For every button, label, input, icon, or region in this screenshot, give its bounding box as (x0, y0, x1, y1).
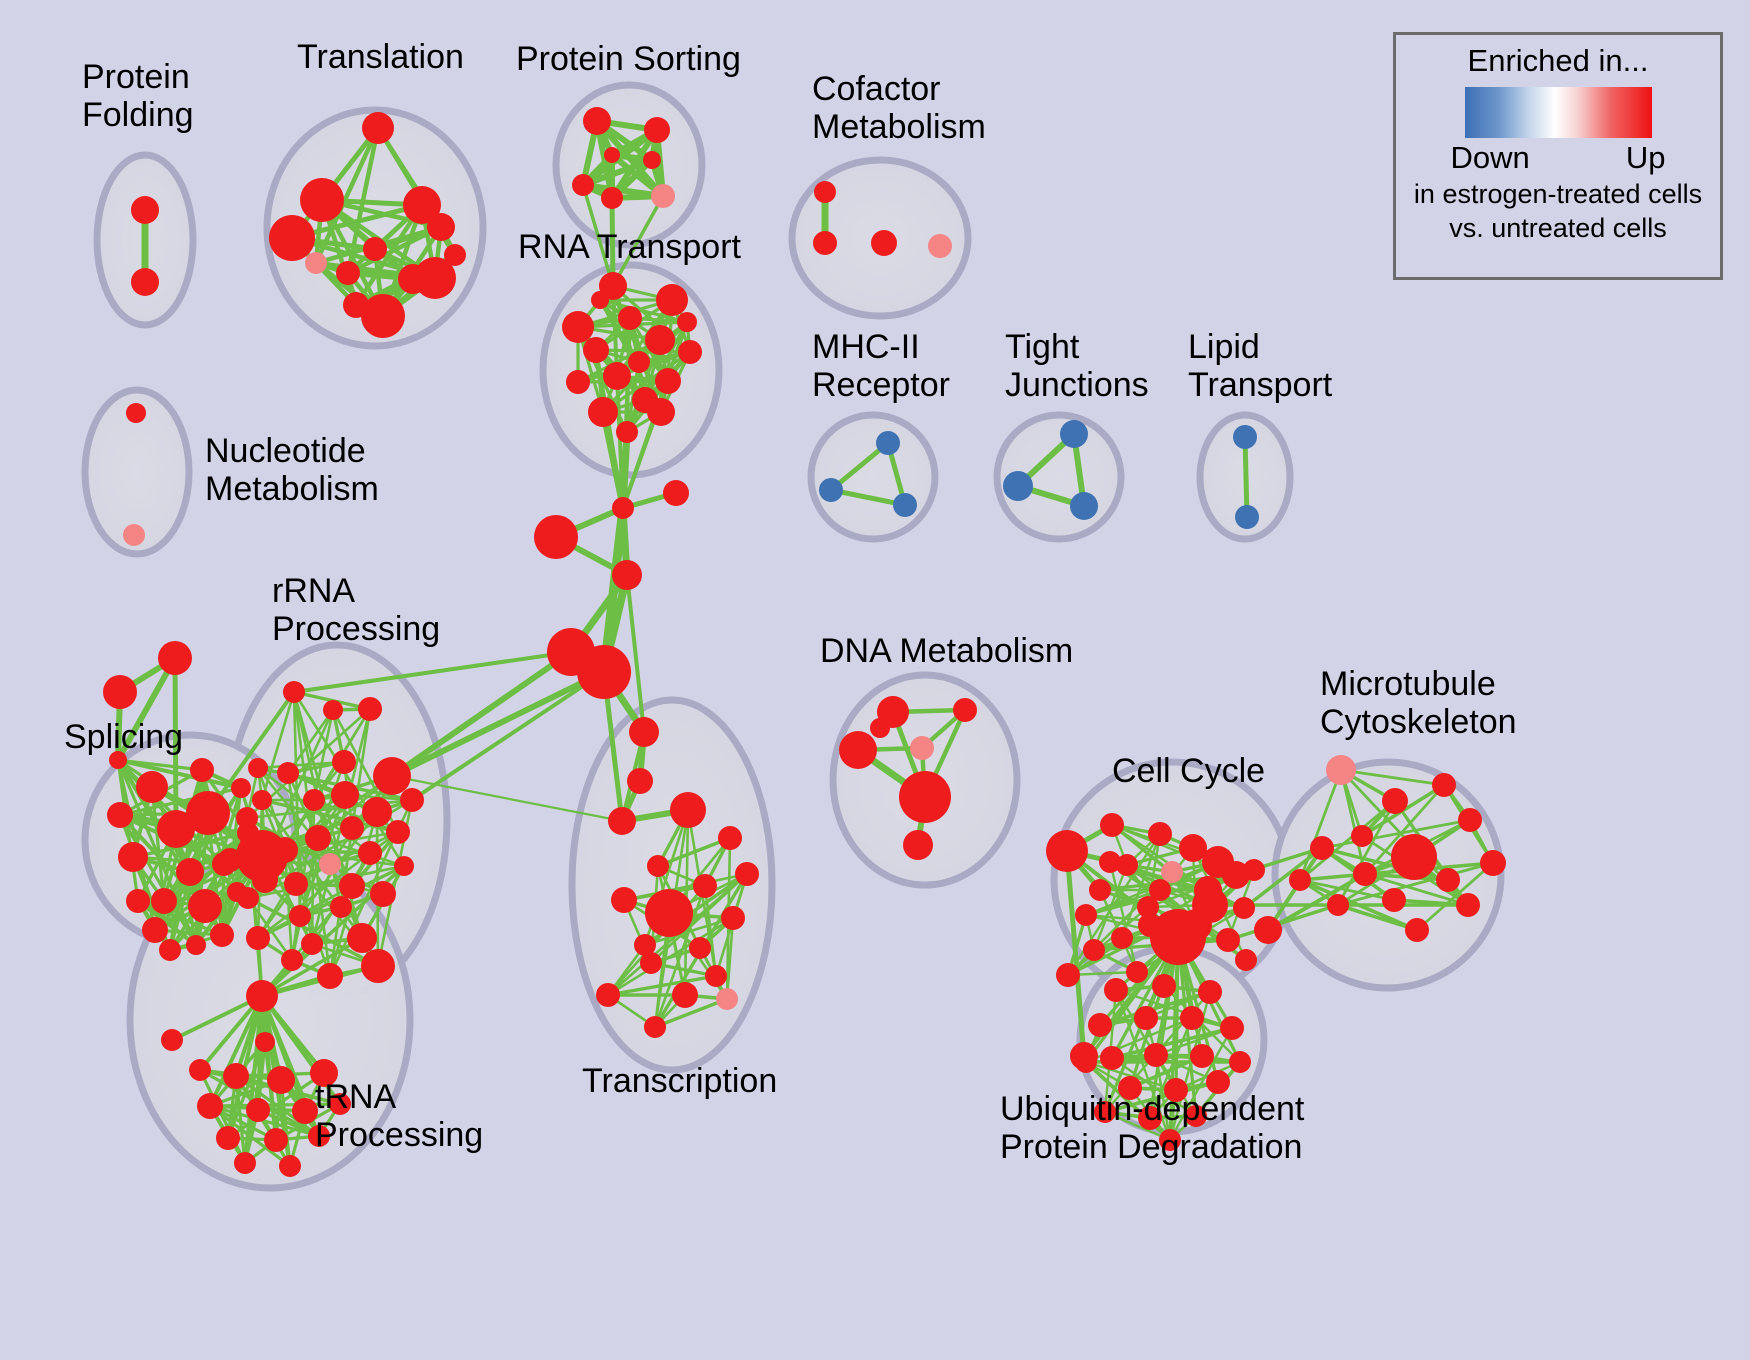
network-node[interactable] (176, 858, 204, 886)
network-node[interactable] (721, 906, 745, 930)
network-node[interactable] (189, 1059, 211, 1081)
legend-title: Enriched in... (1468, 43, 1649, 79)
network-node[interactable] (813, 231, 837, 255)
network-node[interactable] (870, 718, 890, 738)
network-node[interactable] (1243, 859, 1265, 881)
network-node[interactable] (1126, 961, 1148, 983)
network-node[interactable] (142, 917, 168, 943)
network-node[interactable] (1152, 974, 1176, 998)
network-node[interactable] (534, 515, 578, 559)
network-node[interactable] (131, 268, 159, 296)
network-node[interactable] (234, 1152, 256, 1174)
network-node[interactable] (628, 351, 650, 373)
network-node[interactable] (893, 493, 917, 517)
cluster-label-trna-processing: tRNA Processing (315, 1078, 483, 1154)
network-node[interactable] (279, 1155, 301, 1177)
network-node[interactable] (871, 230, 897, 256)
network-node[interactable] (716, 988, 738, 1010)
network-node[interactable] (1216, 928, 1240, 952)
network-node[interactable] (347, 923, 377, 953)
network-node[interactable] (583, 107, 611, 135)
network-node[interactable] (645, 325, 675, 355)
network-node[interactable] (718, 826, 742, 850)
network-node[interactable] (118, 842, 148, 872)
network-node[interactable] (1099, 851, 1121, 873)
network-node[interactable] (255, 1032, 275, 1052)
network-node[interactable] (601, 187, 623, 209)
network-node[interactable] (910, 736, 934, 760)
network-node[interactable] (218, 848, 242, 872)
cluster-ellipse (811, 415, 935, 539)
edge (412, 672, 604, 800)
cluster-label-protein-sorting: Protein Sorting (516, 40, 741, 78)
network-node[interactable] (301, 933, 323, 955)
network-node[interactable] (647, 398, 675, 426)
legend-subtitle-2: vs. untreated cells (1449, 212, 1667, 244)
network-node[interactable] (634, 934, 656, 956)
cluster-label-rrna-processing: rRNA Processing (272, 572, 440, 648)
network-node[interactable] (264, 1128, 288, 1152)
network-node[interactable] (677, 312, 697, 332)
network-node[interactable] (186, 791, 230, 835)
network-node[interactable] (252, 867, 278, 893)
network-node[interactable] (1233, 425, 1257, 449)
network-node[interactable] (1190, 1044, 1214, 1068)
network-node[interactable] (1436, 868, 1460, 892)
network-node[interactable] (1089, 879, 1111, 901)
network-node[interactable] (1289, 869, 1311, 891)
network-node[interactable] (414, 257, 456, 299)
network-node[interactable] (246, 926, 270, 950)
network-node[interactable] (358, 841, 382, 865)
network-node[interactable] (373, 757, 411, 795)
network-node[interactable] (562, 311, 594, 343)
cluster-label-cofactor-metabolism: Cofactor Metabolism (812, 70, 986, 146)
network-node[interactable] (572, 174, 594, 196)
network-node[interactable] (370, 881, 396, 907)
network-node[interactable] (1003, 471, 1033, 501)
legend-low-label: Down (1451, 140, 1530, 176)
cluster-label-mhc-ii-receptor: MHC-II Receptor (812, 328, 950, 404)
network-node[interactable] (1391, 834, 1437, 880)
network-node[interactable] (1353, 862, 1377, 886)
network-node[interactable] (107, 802, 133, 828)
legend-high-label: Up (1626, 140, 1666, 176)
network-node[interactable] (1235, 505, 1259, 529)
legend-subtitle-1: in estrogen-treated cells (1414, 178, 1702, 210)
cluster-label-cell-cycle: Cell Cycle (1112, 752, 1265, 790)
network-node[interactable] (1111, 927, 1133, 949)
network-node[interactable] (656, 284, 688, 316)
network-node[interactable] (343, 292, 369, 318)
network-node[interactable] (269, 215, 315, 261)
network-node[interactable] (678, 340, 702, 364)
network-node[interactable] (899, 771, 951, 823)
network-node[interactable] (1192, 887, 1228, 923)
network-node[interactable] (1382, 788, 1408, 814)
network-node[interactable] (331, 781, 359, 809)
network-node[interactable] (131, 196, 159, 224)
cluster-label-transcription: Transcription (582, 1062, 777, 1100)
network-node[interactable] (876, 431, 900, 455)
legend-gradient-bar (1465, 87, 1652, 138)
cluster-label-nucleotide-metabolism: Nucleotide Metabolism (205, 432, 379, 508)
cluster-label-tight-junctions: Tight Junctions (1005, 328, 1149, 404)
network-node[interactable] (1075, 904, 1097, 926)
network-node[interactable] (1310, 836, 1334, 860)
network-node[interactable] (317, 963, 343, 989)
network-node[interactable] (608, 807, 636, 835)
network-node[interactable] (223, 1063, 249, 1089)
network-node[interactable] (903, 830, 933, 860)
network-node[interactable] (362, 797, 392, 827)
network-node[interactable] (1100, 813, 1124, 837)
network-node[interactable] (336, 261, 360, 285)
network-node[interactable] (277, 762, 299, 784)
edge (623, 432, 627, 508)
network-node[interactable] (103, 675, 137, 709)
network-node[interactable] (305, 825, 331, 851)
network-node[interactable] (1075, 1051, 1097, 1073)
network-node[interactable] (231, 778, 251, 798)
network-node[interactable] (283, 681, 305, 703)
network-node[interactable] (281, 949, 303, 971)
network-node[interactable] (267, 1066, 295, 1094)
network-node[interactable] (1458, 808, 1482, 832)
network-node[interactable] (672, 982, 698, 1008)
network-node[interactable] (394, 856, 414, 876)
network-node[interactable] (643, 151, 661, 169)
network-node[interactable] (427, 213, 455, 241)
cluster-label-microtubule-cytoskeleton: Microtubule Cytoskeleton (1320, 665, 1517, 741)
network-node[interactable] (1351, 825, 1373, 847)
network-node[interactable] (1480, 850, 1506, 876)
cluster-label-translation: Translation (297, 38, 464, 76)
network-node[interactable] (1198, 980, 1222, 1004)
network-node[interactable] (612, 497, 634, 519)
network-node[interactable] (186, 935, 206, 955)
network-node[interactable] (339, 873, 365, 899)
network-node[interactable] (1134, 1006, 1158, 1030)
network-node[interactable] (705, 965, 727, 987)
network-node[interactable] (618, 306, 642, 330)
network-node[interactable] (386, 820, 410, 844)
network-node[interactable] (1229, 1051, 1251, 1073)
network-node[interactable] (1254, 916, 1282, 944)
network-node[interactable] (1046, 830, 1088, 872)
legend-box: Enriched in... Down Up in estrogen-treat… (1393, 32, 1723, 280)
network-node[interactable] (655, 368, 681, 394)
network-node[interactable] (629, 717, 659, 747)
network-node[interactable] (1327, 894, 1349, 916)
network-node[interactable] (236, 807, 258, 829)
legend-endpoints: Down Up (1451, 140, 1666, 176)
network-node[interactable] (611, 887, 637, 913)
network-node[interactable] (136, 771, 168, 803)
network-node[interactable] (246, 1098, 270, 1122)
network-node[interactable] (323, 700, 343, 720)
network-node[interactable] (566, 370, 590, 394)
network-node[interactable] (819, 478, 843, 502)
network-node[interactable] (1405, 918, 1429, 942)
network-node[interactable] (123, 524, 145, 546)
network-node[interactable] (644, 1016, 666, 1038)
network-node[interactable] (400, 788, 424, 812)
network-node[interactable] (188, 889, 222, 923)
network-node[interactable] (663, 480, 689, 506)
network-node[interactable] (161, 1029, 183, 1051)
network-node[interactable] (1382, 888, 1406, 912)
network-node[interactable] (1137, 896, 1159, 918)
network-node[interactable] (159, 939, 181, 961)
network-node[interactable] (596, 983, 620, 1007)
network-node[interactable] (210, 923, 234, 947)
cluster-label-protein-folding: Protein Folding (82, 58, 194, 134)
network-node[interactable] (246, 980, 278, 1012)
network-node[interactable] (588, 397, 618, 427)
cluster-label-dna-metabolism: DNA Metabolism (820, 632, 1073, 670)
network-node[interactable] (1060, 420, 1088, 448)
network-node[interactable] (591, 291, 609, 309)
network-node[interactable] (583, 337, 609, 363)
network-node[interactable] (735, 862, 759, 886)
network-node[interactable] (839, 731, 877, 769)
network-node[interactable] (272, 837, 298, 863)
network-node[interactable] (248, 758, 268, 778)
network-node[interactable] (1220, 1016, 1244, 1040)
network-node[interactable] (363, 237, 387, 261)
network-node[interactable] (814, 181, 836, 203)
network-node[interactable] (693, 874, 717, 898)
network-node[interactable] (190, 758, 214, 782)
network-node[interactable] (604, 147, 620, 163)
network-node[interactable] (319, 853, 341, 875)
network-node[interactable] (332, 750, 356, 774)
network-node[interactable] (1326, 755, 1356, 785)
network-node[interactable] (644, 117, 670, 143)
network-node[interactable] (647, 855, 669, 877)
network-node[interactable] (197, 1093, 223, 1119)
network-node[interactable] (358, 697, 382, 721)
network-node[interactable] (252, 790, 272, 810)
network-node[interactable] (1083, 939, 1105, 961)
network-node[interactable] (953, 698, 977, 722)
network-node[interactable] (928, 234, 952, 258)
network-node[interactable] (340, 816, 364, 840)
network-node[interactable] (1070, 492, 1098, 520)
cluster-label-splicing: Splicing (64, 718, 183, 756)
network-node[interactable] (645, 889, 693, 937)
network-node[interactable] (627, 768, 653, 794)
network-node[interactable] (361, 949, 395, 983)
network-node[interactable] (362, 112, 394, 144)
network-node[interactable] (1104, 978, 1128, 1002)
network-node[interactable] (651, 184, 675, 208)
network-node[interactable] (158, 641, 192, 675)
network-node[interactable] (670, 792, 706, 828)
network-node[interactable] (612, 560, 642, 590)
network-node[interactable] (330, 896, 352, 918)
network-node[interactable] (303, 789, 325, 811)
network-node[interactable] (237, 887, 259, 909)
cluster-label-lipid-transport: Lipid Transport (1188, 328, 1332, 404)
network-node[interactable] (151, 888, 177, 914)
network-node[interactable] (1180, 1006, 1204, 1030)
network-node[interactable] (1088, 1013, 1112, 1037)
network-node[interactable] (1144, 1043, 1168, 1067)
network-node[interactable] (1235, 949, 1257, 971)
network-node[interactable] (577, 645, 631, 699)
network-node[interactable] (1432, 773, 1456, 797)
network-node[interactable] (1456, 893, 1480, 917)
edge (1245, 437, 1247, 517)
network-node[interactable] (126, 889, 150, 913)
network-node[interactable] (616, 421, 638, 443)
cluster-label-rna-transport: RNA Transport (518, 228, 741, 266)
network-node[interactable] (1161, 861, 1183, 883)
network-node[interactable] (1100, 1046, 1124, 1070)
network-node[interactable] (603, 362, 631, 390)
network-node[interactable] (284, 872, 308, 896)
enrichment-map-figure: Protein FoldingTranslationProtein Sortin… (0, 0, 1750, 1360)
network-node[interactable] (1233, 897, 1255, 919)
cluster-label-ubiquitin-protein-degradation: Ubiquitin-dependent Protein Degradation (1000, 1090, 1304, 1166)
network-node[interactable] (1056, 963, 1080, 987)
network-node[interactable] (126, 403, 146, 423)
network-node[interactable] (289, 905, 311, 927)
network-node[interactable] (689, 937, 711, 959)
network-node[interactable] (300, 178, 344, 222)
network-node[interactable] (305, 252, 327, 274)
network-node[interactable] (216, 1126, 240, 1150)
network-node[interactable] (1148, 822, 1172, 846)
